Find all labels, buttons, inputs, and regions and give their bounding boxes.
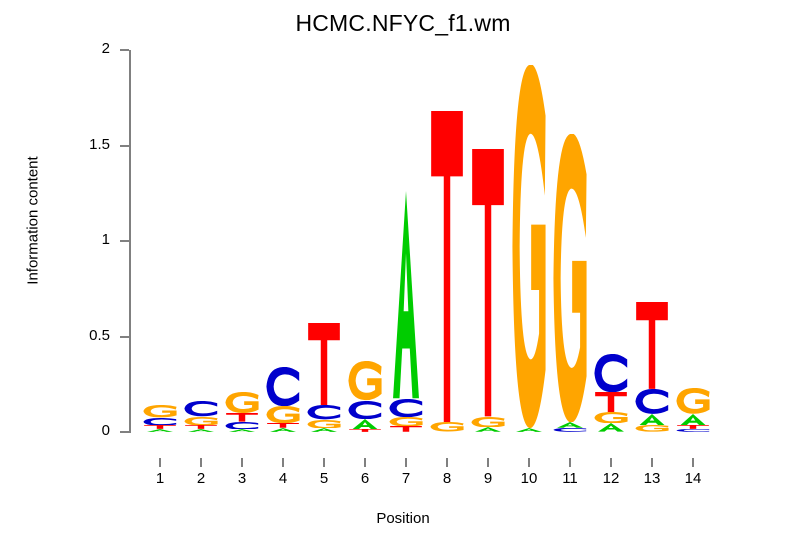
logo-letter-g [388,417,424,427]
logo-letter-a [675,414,711,425]
logo-letter-c [306,405,342,419]
logo-letter-a [142,429,178,432]
logo-stack-position-14 [675,388,711,432]
logo-letter-a [593,423,629,432]
logo-letter-a [388,191,424,398]
logo-letter-g [306,420,342,429]
logo-letter-t [593,392,629,412]
logo-stack-position-13 [634,302,670,432]
logo-letter-t [347,429,383,432]
logo-letter-g [429,422,465,432]
logo-stack-position-8 [429,111,465,432]
logo-letter-t [388,426,424,432]
logo-letter-c [675,429,711,432]
logo-letter-t [470,149,506,416]
logo-letter-g [470,417,506,428]
logo-letter-a [347,419,383,430]
logo-letter-a [634,414,670,425]
logo-stack-position-4 [265,367,301,432]
logo-letter-t [224,413,260,422]
logo-stack-position-1 [142,405,178,432]
logo-letter-a [224,429,260,432]
logo-letter-g [224,392,260,413]
logo-stacks [0,0,806,559]
logo-letter-c [388,399,424,417]
logo-letter-g [675,388,711,414]
logo-stack-position-11 [552,134,588,432]
logo-letter-g [552,134,588,422]
logo-letter-a [265,428,301,432]
logo-stack-position-12 [593,354,629,432]
logo-letter-c [634,389,670,414]
logo-letter-c [593,354,629,392]
logo-letter-c [224,422,260,430]
logo-letter-t [634,302,670,389]
logo-letter-g [634,425,670,432]
logo-letter-g [347,361,383,400]
logo-letter-a [470,427,506,432]
sequence-logo-plot: HCMC.NFYC_f1.wm Information content Posi… [0,0,806,559]
logo-letter-g [265,406,301,423]
logo-letter-a [511,428,547,432]
logo-stack-position-10 [511,65,547,432]
logo-letter-a [183,429,219,432]
logo-stack-position-2 [183,401,219,432]
logo-letter-g [183,417,219,426]
logo-letter-g [142,405,178,417]
logo-letter-a [306,428,342,432]
logo-letter-c [142,418,178,426]
logo-letter-g [511,65,547,428]
logo-letter-g [593,412,629,423]
logo-letter-c [265,367,301,406]
logo-stack-position-9 [470,149,506,432]
logo-stack-position-3 [224,392,260,432]
logo-letter-c [552,428,588,432]
logo-stack-position-6 [347,361,383,432]
logo-letter-t [306,323,342,405]
logo-letter-c [183,401,219,416]
logo-letter-c [347,401,383,419]
logo-stack-position-5 [306,323,342,432]
logo-letter-t [429,111,465,422]
logo-stack-position-7 [388,191,424,432]
